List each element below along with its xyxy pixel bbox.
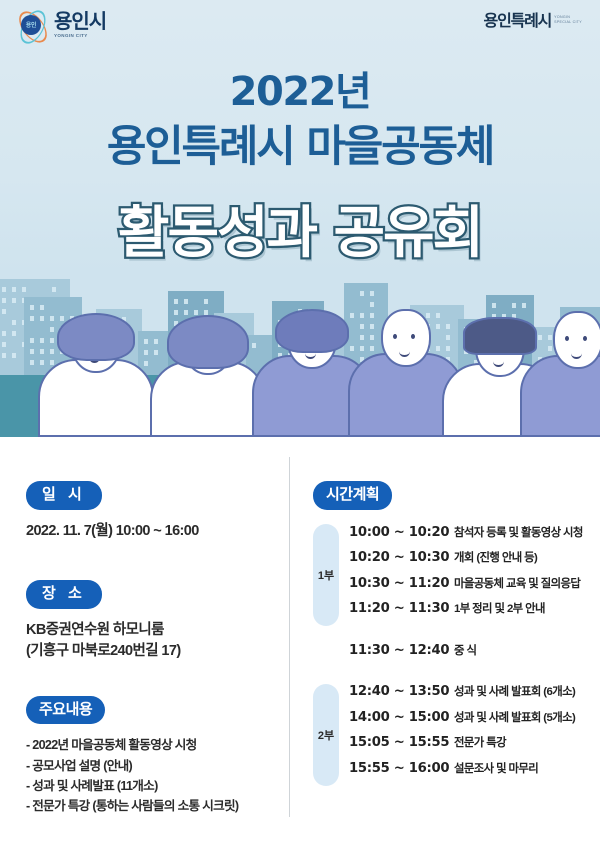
place-value-line1: KB증권연수원 하모니룸 [26, 620, 276, 641]
row-desc: 참석자 등록 및 활동영상 시청 [454, 524, 583, 540]
list-item: - 2022년 마을공동체 활동영상 시청 [26, 735, 276, 755]
table-row: 11:20 ~ 11:30 1부 정리 및 2부 안내 [349, 600, 588, 626]
logo-left-kr: 용인시 [54, 12, 106, 32]
row-time: 10:30 ~ 11:20 [349, 576, 454, 591]
table-row: 10:20 ~ 10:30 개회 (진행 안내 등) [349, 549, 588, 575]
part1-pill: 1부 [313, 524, 339, 626]
row-time: 15:05 ~ 15:55 [349, 735, 454, 750]
left-column: 일 시 2022. 11. 7(월) 10:00 ~ 16:00 장 소 KB증… [26, 481, 276, 825]
poster-info: 일 시 2022. 11. 7(월) 10:00 ~ 16:00 장 소 KB증… [0, 437, 600, 848]
table-row: 15:55 ~ 16:00 설문조사 및 마무리 [349, 760, 588, 786]
title-line-3: 활동성과 공유회 [0, 188, 600, 269]
person-illustration [150, 302, 262, 437]
place-block: 장 소 KB증권연수원 하모니룸 (기흥구 마북로240번길 17) [26, 580, 276, 662]
table-row: 10:30 ~ 11:20 마을공동체 교육 및 질의응답 [349, 575, 588, 601]
logo-right-en1: YONGIN [554, 15, 582, 19]
contents-block: 주요내용 - 2022년 마을공동체 활동영상 시청 - 공모사업 설명 (안내… [26, 696, 276, 817]
row-time: 14:00 ~ 15:00 [349, 710, 454, 725]
right-column: 시간계획 1부 10:00 ~ 10:20 참석자 등록 및 활동영상 시청 1… [313, 481, 588, 785]
list-item: - 성과 및 사례발표 (11개소) [26, 776, 276, 796]
place-value-line2: (기흥구 마북로240번길 17) [26, 641, 276, 662]
logo-right-kr: 용인특례시 [484, 14, 552, 30]
row-time: 10:20 ~ 10:30 [349, 550, 454, 565]
row-time: 11:30 ~ 12:40 [349, 643, 454, 658]
logo-right-en2: SPECIAL CITY [554, 20, 582, 24]
yongin-special-city-logo: 용인특례시 YONGIN SPECIAL CITY [484, 14, 582, 30]
poster-hero: 용인 용인시 YONGIN CITY 용인특례시 YONGIN SPECIAL … [0, 0, 600, 437]
schedule-badge: 시간계획 [313, 481, 392, 510]
row-time: 10:00 ~ 10:20 [349, 525, 454, 540]
row-desc: 성과 및 사례 발표회 (5개소) [454, 709, 575, 725]
table-row: 14:00 ~ 15:00 성과 및 사례 발표회 (5개소) [349, 709, 588, 735]
person-illustration [38, 302, 150, 437]
contents-badge: 주요내용 [26, 696, 105, 725]
title-line-2: 용인특례시 마을공동체 [0, 112, 600, 174]
table-row: 12:40 ~ 13:50 성과 및 사례 발표회 (6개소) [349, 683, 588, 709]
row-desc: 중 식 [454, 642, 476, 658]
date-value: 2022. 11. 7(월) 10:00 ~ 16:00 [26, 521, 276, 542]
table-row-lunch: 11:30 ~ 12:40 중 식 [349, 642, 588, 668]
event-poster: 용인 용인시 YONGIN CITY 용인특례시 YONGIN SPECIAL … [0, 0, 600, 848]
row-desc: 1부 정리 및 2부 안내 [454, 600, 545, 616]
column-divider [289, 457, 290, 817]
yongin-emblem-icon: 용인 [14, 8, 48, 42]
row-time: 15:55 ~ 16:00 [349, 761, 454, 776]
yongin-city-logo: 용인 용인시 YONGIN CITY [14, 8, 106, 42]
place-badge: 장 소 [26, 580, 102, 609]
table-row: 15:05 ~ 15:55 전문가 특강 [349, 734, 588, 760]
date-block: 일 시 2022. 11. 7(월) 10:00 ~ 16:00 [26, 481, 276, 542]
row-desc: 전문가 특강 [454, 734, 506, 750]
row-time: 12:40 ~ 13:50 [349, 684, 454, 699]
row-desc: 설문조사 및 마무리 [454, 760, 538, 776]
row-desc: 마을공동체 교육 및 질의응답 [454, 575, 580, 591]
list-item: - 공모사업 설명 (안내) [26, 756, 276, 776]
row-time: 11:20 ~ 11:30 [349, 601, 454, 616]
schedule-table: 1부 10:00 ~ 10:20 참석자 등록 및 활동영상 시청 10:20 … [313, 524, 588, 786]
title-year: 2022년 [0, 59, 600, 117]
part2-pill: 2부 [313, 684, 339, 786]
table-row: 10:00 ~ 10:20 참석자 등록 및 활동영상 시청 [349, 524, 588, 550]
part2-label: 2부 [318, 727, 334, 743]
person-illustration [520, 302, 600, 437]
contents-list: - 2022년 마을공동체 활동영상 시청 - 공모사업 설명 (안내) - 성… [26, 735, 276, 817]
row-desc: 개회 (진행 안내 등) [454, 549, 537, 565]
people-illustration [0, 302, 600, 437]
list-item: - 전문가 특강 (통하는 사람들의 소통 시크릿) [26, 796, 276, 816]
date-badge: 일 시 [26, 481, 102, 510]
part1-label: 1부 [318, 567, 334, 583]
row-desc: 성과 및 사례 발표회 (6개소) [454, 683, 575, 699]
logo-left-en: YONGIN CITY [54, 34, 106, 39]
